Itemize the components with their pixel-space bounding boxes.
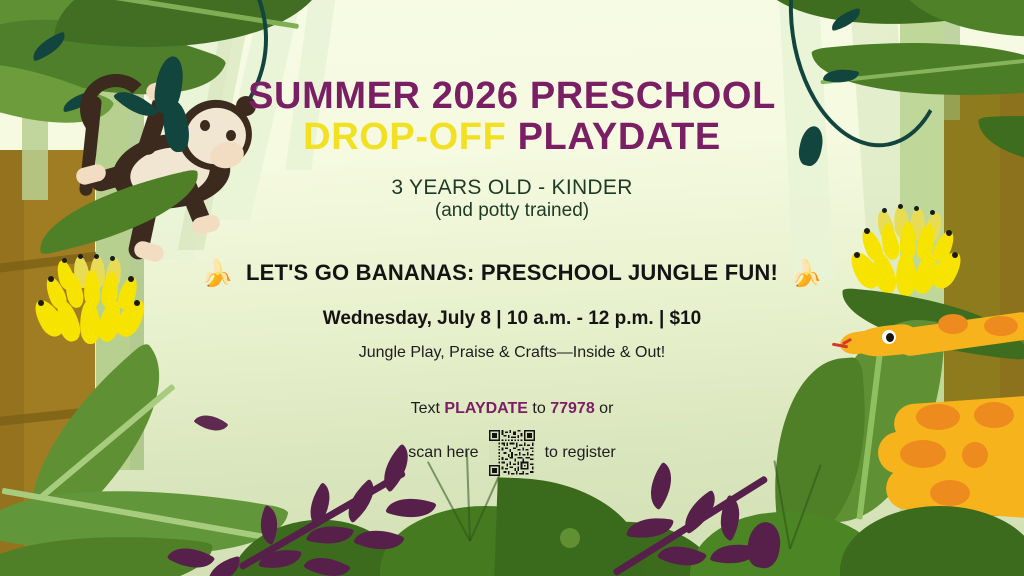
scan-suffix-label: to register <box>545 444 616 462</box>
title-line-1: SUMMER 2026 PRESCHOOL <box>248 76 776 117</box>
register-keyword: PLAYDATE <box>444 400 528 417</box>
banana-icon: 🍌 <box>201 260 234 286</box>
flyer-content: SUMMER 2026 PRESCHOOL DROP-OFF PLAYDATE … <box>0 0 1024 576</box>
subtitle-note: (and potty trained) <box>435 200 589 222</box>
scan-prefix-label: scan here <box>408 444 478 462</box>
register-prefix: Text <box>411 400 445 417</box>
event-headline: 🍌 LET'S GO BANANAS: PRESCHOOL JUNGLE FUN… <box>201 260 822 286</box>
registration-text-line: Text PLAYDATE to 77978 or <box>411 400 614 418</box>
qr-code[interactable] <box>489 430 535 476</box>
event-description: Jungle Play, Praise & Crafts—Inside & Ou… <box>359 344 666 362</box>
register-middle: to <box>528 400 550 417</box>
scan-line: scan here <box>408 430 615 476</box>
banana-icon: 🍌 <box>790 260 823 286</box>
register-shortcode: 77978 <box>550 400 595 417</box>
title-highlight: DROP-OFF <box>303 116 506 158</box>
title-rest: PLAYDATE <box>518 116 721 158</box>
register-suffix: or <box>595 400 614 417</box>
headline-text: LET'S GO BANANAS: PRESCHOOL JUNGLE FUN! <box>246 260 778 286</box>
title-line-2: DROP-OFF PLAYDATE <box>303 117 721 158</box>
flyer-poster: SUMMER 2026 PRESCHOOL DROP-OFF PLAYDATE … <box>0 0 1024 576</box>
subtitle-age-range: 3 YEARS OLD - KINDER <box>391 176 632 200</box>
event-datetime-price: Wednesday, July 8 | 10 a.m. - 12 p.m. | … <box>323 308 702 330</box>
